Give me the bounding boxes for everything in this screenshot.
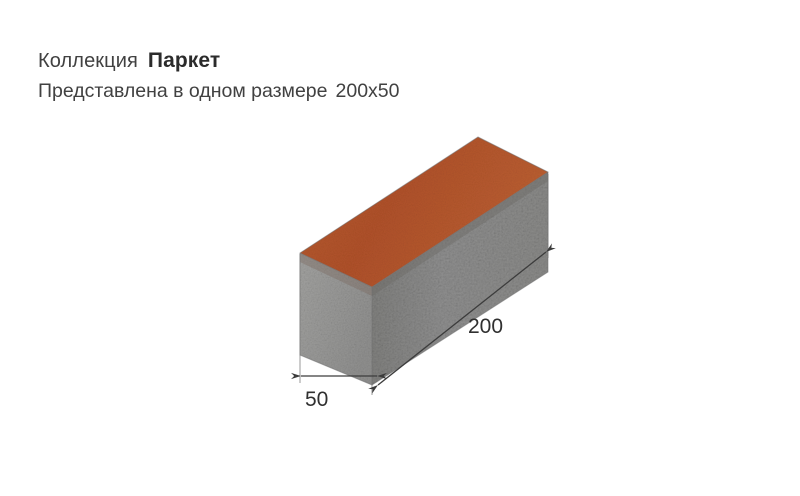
paver-block-figure: 50 200 (0, 0, 800, 496)
page-root: КоллекцияПаркет Представлена в одном раз… (0, 0, 800, 496)
dimension-label-50: 50 (305, 388, 328, 411)
dimension-label-200: 200 (468, 315, 503, 338)
